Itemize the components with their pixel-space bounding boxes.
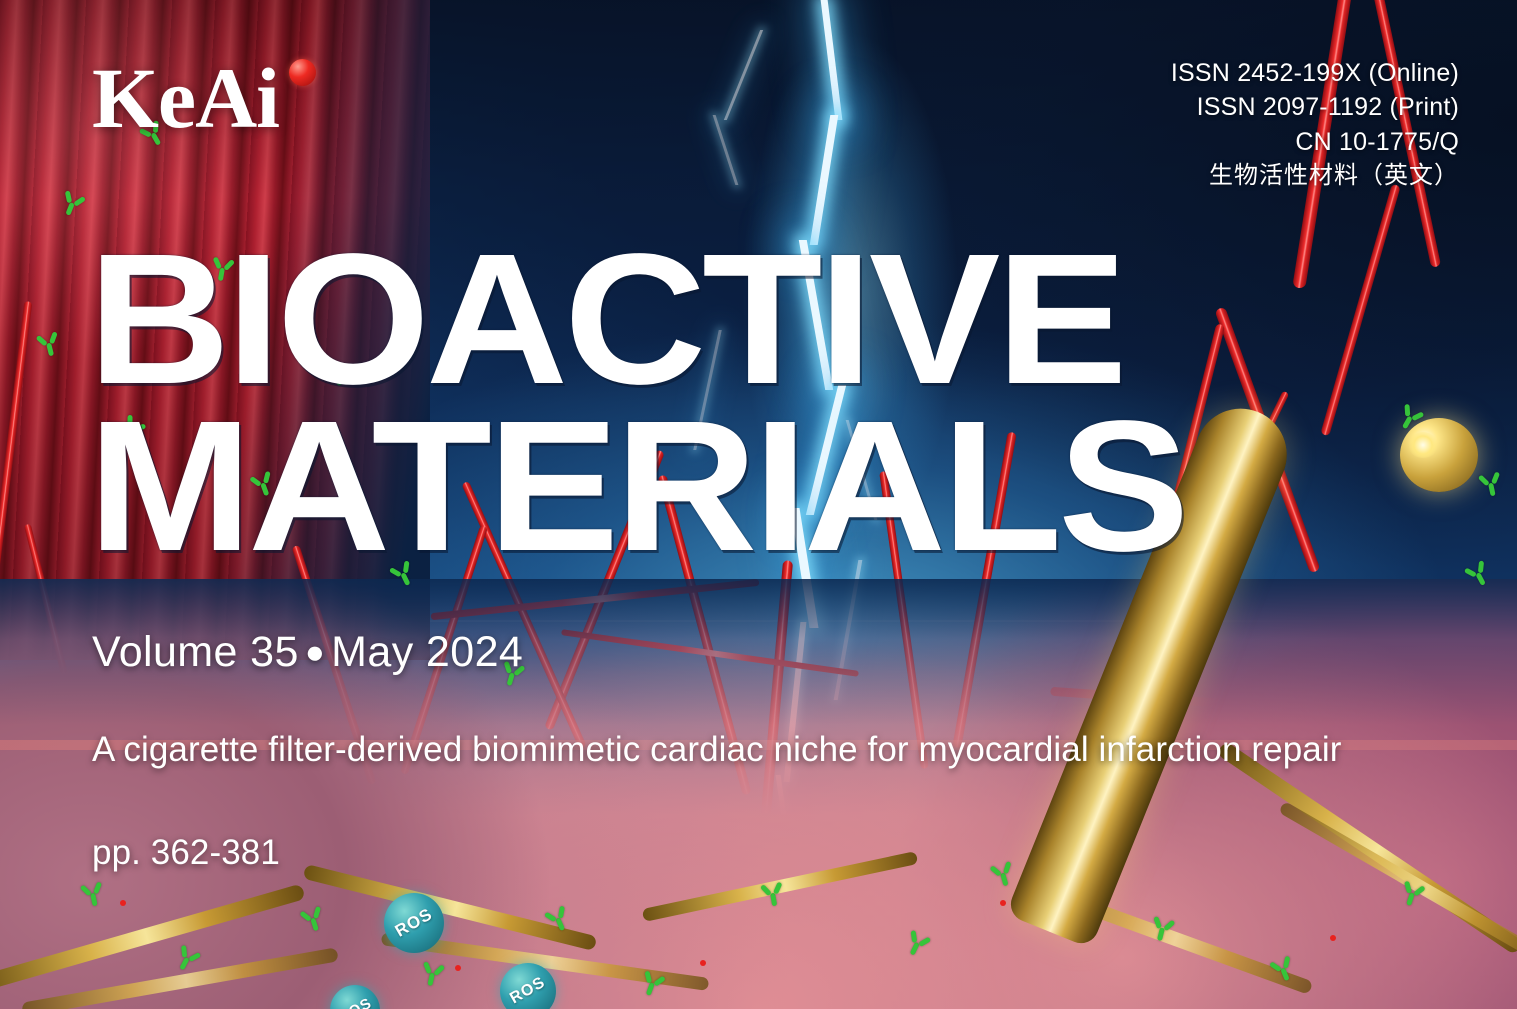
journal-title-cjk: 生物活性材料（英文） xyxy=(1171,159,1459,192)
featured-article-pages: pp. 362-381 xyxy=(92,833,280,873)
journal-title-line-2: MATERIALS xyxy=(88,403,1508,570)
ros-sphere: ROS xyxy=(384,893,444,953)
journal-title: BIOACTIVE MATERIALS xyxy=(88,236,1508,571)
cn-number: CN 10-1775/Q xyxy=(1171,125,1459,159)
keai-red-dot-icon xyxy=(289,59,316,86)
publisher-logo-text: KeAi xyxy=(92,50,279,146)
volume-date: May 2024 xyxy=(331,628,523,676)
featured-article-title[interactable]: A cigarette filter-derived biomimetic ca… xyxy=(92,728,1382,773)
issn-block: ISSN 2452-199X (Online) ISSN 2097-1192 (… xyxy=(1171,56,1459,192)
journal-title-line-1: BIOACTIVE xyxy=(88,236,1508,403)
volume-separator: ● xyxy=(299,633,331,670)
volume-number: Volume 35 xyxy=(92,628,299,676)
publisher-logo[interactable]: KeAi xyxy=(92,55,279,141)
ros-sphere: ROS xyxy=(500,963,556,1009)
issn-print: ISSN 2097-1192 (Print) xyxy=(1171,90,1459,124)
journal-cover: ROS ROS ROS KeAi ISSN 2452-199X (Online)… xyxy=(0,0,1517,1009)
volume-line: Volume 35●May 2024 xyxy=(92,628,523,677)
issn-online: ISSN 2452-199X (Online) xyxy=(1171,56,1459,90)
